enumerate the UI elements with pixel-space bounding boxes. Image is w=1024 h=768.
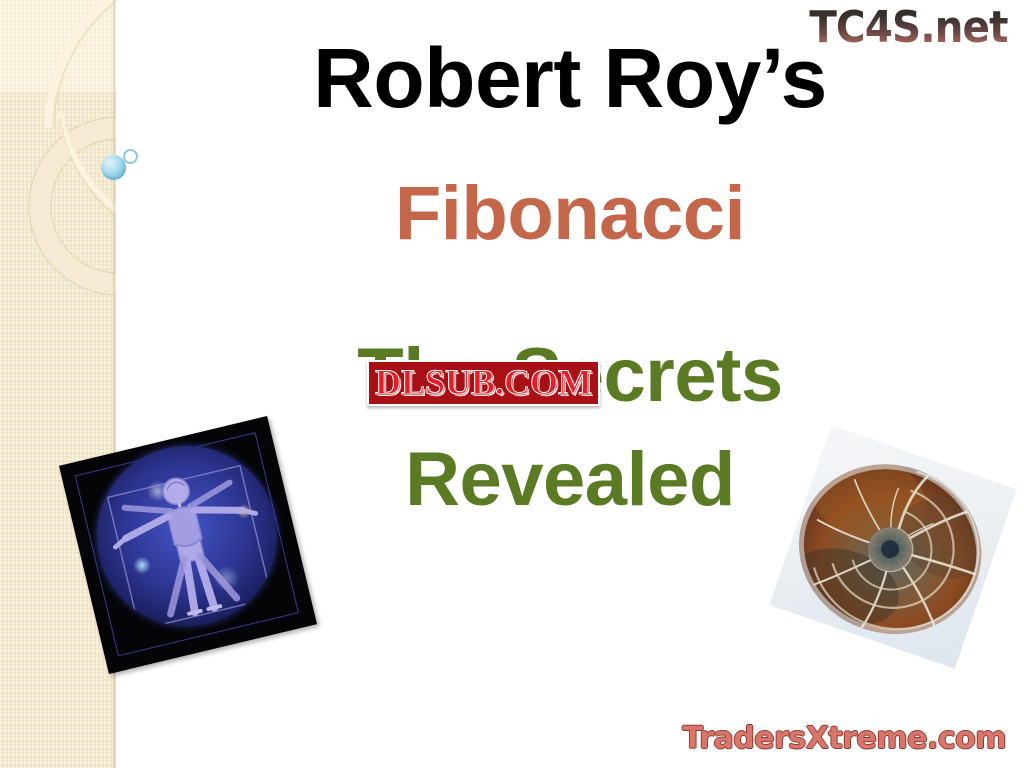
left-decorative-band [0,0,116,768]
dlsub-watermark: DLSUB.COM [367,360,600,406]
tc4s-logo: TC4S.net [810,6,1008,50]
slide-canvas: Robert Roy’s Fibonacci The Secrets Revea… [0,0,1024,768]
bubble-small-icon [123,149,138,164]
page-title-line-2: Fibonacci [116,176,1024,252]
decorative-arc [0,0,116,420]
tradersxtreme-logo: TradersXtreme.com [683,724,1006,754]
